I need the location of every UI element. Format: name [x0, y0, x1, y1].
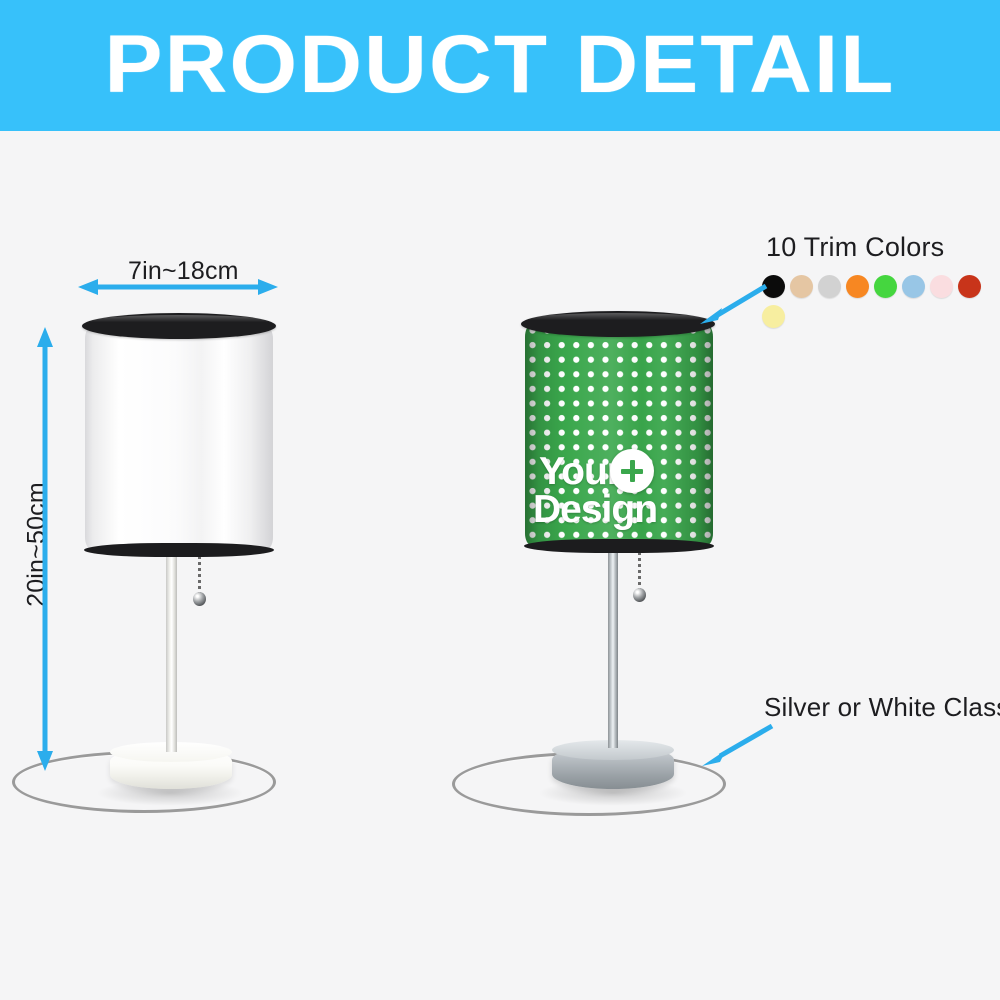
- trim-swatch-orange[interactable]: [846, 275, 869, 298]
- trim-swatch-light-blue[interactable]: [902, 275, 925, 298]
- your-design-line-1: Your: [539, 452, 621, 491]
- lamp-pole-white: [166, 556, 177, 752]
- lampshade-bottom-trim-white: [84, 543, 274, 557]
- trim-callout-arrow: [700, 282, 772, 326]
- lampshade-top-trim-highlight-green: [529, 313, 707, 325]
- pull-chain-ball-silver[interactable]: [633, 588, 646, 602]
- pull-chain-ball-white[interactable]: [193, 592, 206, 606]
- base-label: Silver or White Classy: [764, 692, 1000, 723]
- base-callout-arrow: [700, 722, 778, 768]
- pull-chain-silver[interactable]: [638, 552, 641, 591]
- lampshade-white: [85, 327, 273, 549]
- header-banner: PRODUCT DETAIL: [0, 0, 1000, 131]
- lampshade-bottom-trim-green: [524, 539, 714, 553]
- trim-swatch-light-gray[interactable]: [818, 275, 841, 298]
- your-design-line-2: Design: [533, 490, 657, 529]
- trim-colors-label: 10 Trim Colors: [766, 232, 944, 263]
- product-detail-page: PRODUCT DETAIL: [0, 0, 1000, 1000]
- page-title: PRODUCT DETAIL: [0, 19, 1000, 111]
- height-dimension-arrow: [33, 327, 57, 771]
- lampshade-top-trim-highlight-white: [90, 315, 268, 327]
- lamp-pole-silver: [608, 552, 618, 748]
- trim-swatch-pink[interactable]: [930, 275, 953, 298]
- trim-swatch-green[interactable]: [874, 275, 897, 298]
- width-dimension-arrow: [78, 275, 278, 299]
- trim-swatch-tan[interactable]: [790, 275, 813, 298]
- pull-chain-white[interactable]: [198, 556, 201, 595]
- trim-swatch-dark-red[interactable]: [958, 275, 981, 298]
- plus-circle-icon: [610, 449, 654, 493]
